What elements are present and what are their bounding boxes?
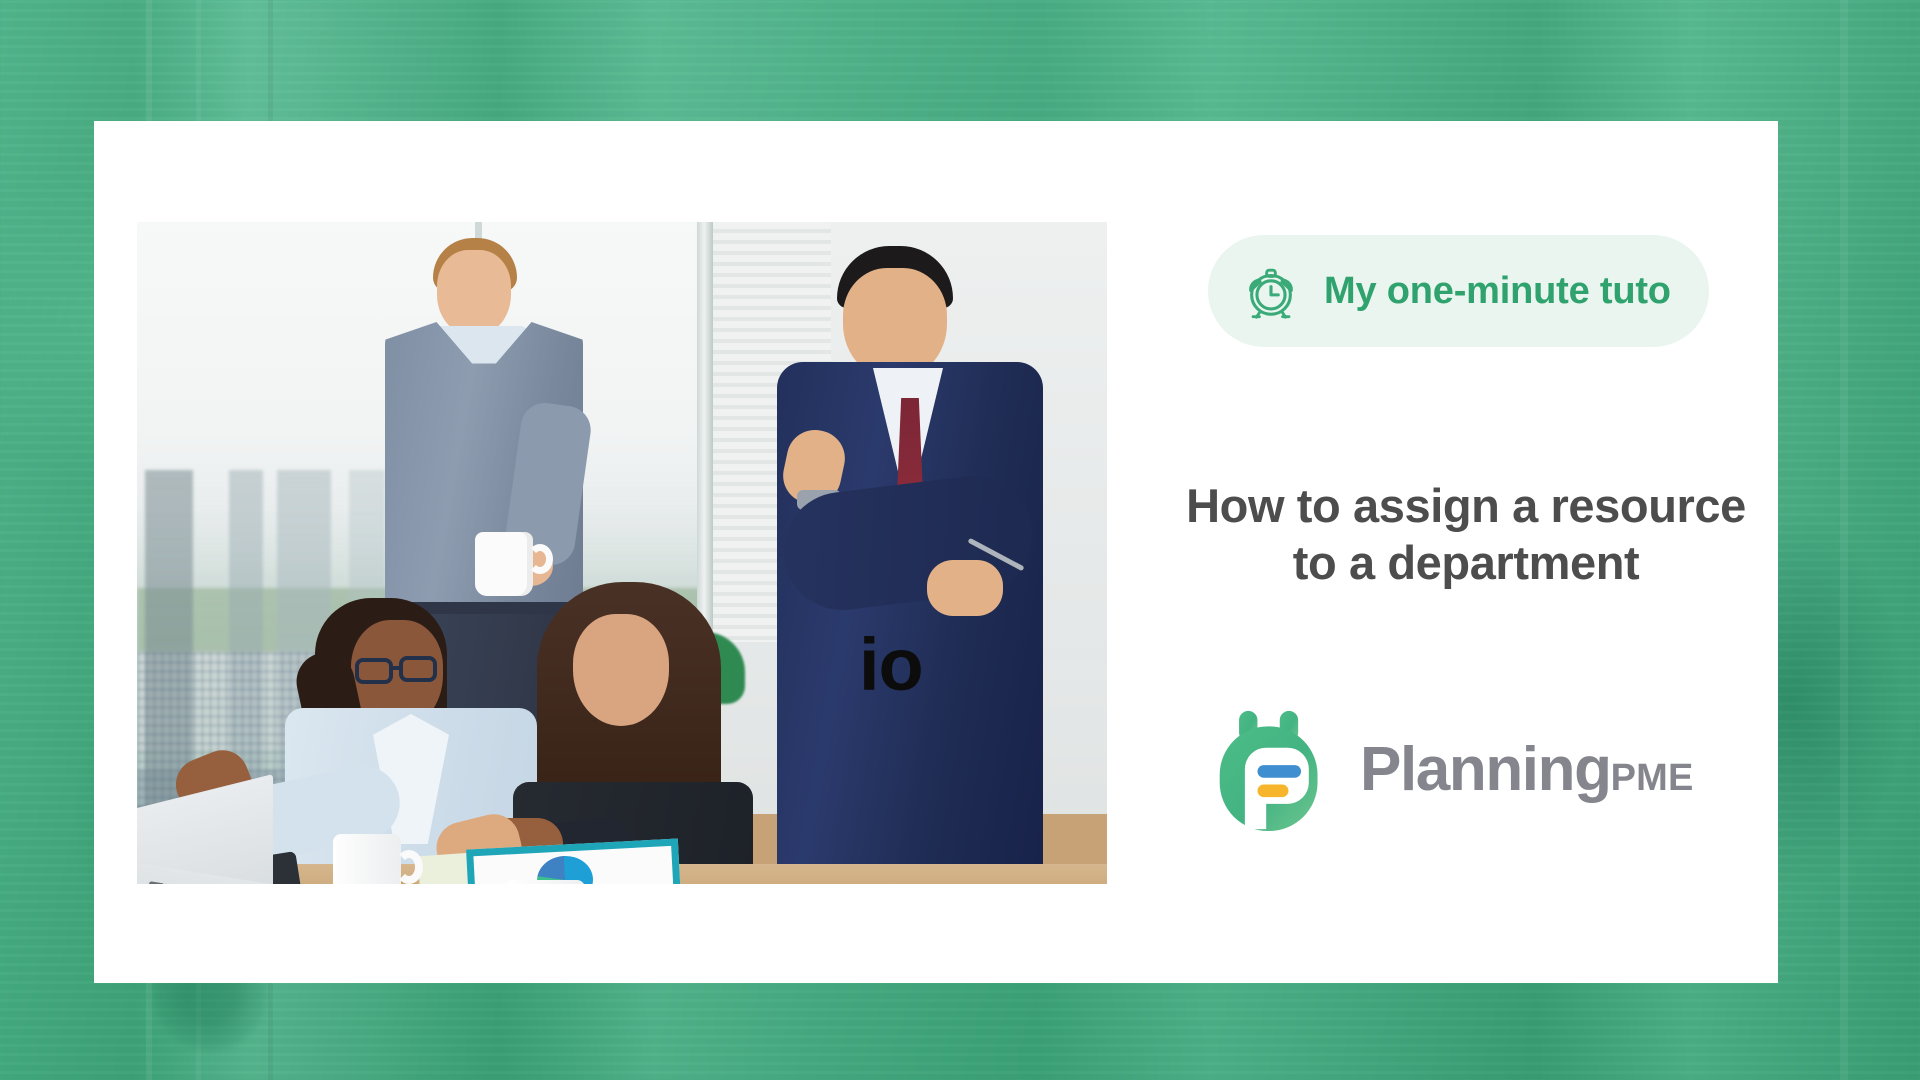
photo-mug-table [333,834,401,884]
one-minute-tuto-badge: My one-minute tuto [1208,235,1709,347]
photo-woman-1-glasses-bridge [391,666,403,670]
photo-mug-held [475,532,533,596]
right-column: My one-minute tuto How to assign a resou… [1154,121,1778,983]
photo-mug-held-handle [527,544,553,574]
logo-word-planning: Planning [1360,734,1611,805]
photo-mug-table-2 [505,880,585,884]
photo-woman-1-glasses-left [355,658,393,684]
planningpme-logo: Planning PME [1210,707,1694,831]
content-card: io [94,121,1778,983]
photo-man-navy-hand-2 [927,560,1003,616]
logo-wordmark: Planning PME [1360,734,1694,805]
photo-woman-2-head [573,614,669,726]
photo-man-grey-head [437,250,511,336]
badge-label: My one-minute tuto [1324,270,1671,313]
page-title: How to assign a resource to a department [1154,477,1778,592]
alarm-clock-icon [1240,260,1302,322]
planningpme-logo-mark-icon [1210,707,1334,831]
logo-word-pme: PME [1611,757,1694,800]
page-root: io [0,0,1920,1080]
page-title-line-2: to a department [1154,534,1778,591]
photo-woman-1-glasses-right [399,656,437,682]
page-title-line-1: How to assign a resource [1154,477,1778,534]
meeting-photo: io [137,222,1107,884]
photo-mug-table-handle [395,850,423,884]
photo-watermark: io [859,628,923,702]
